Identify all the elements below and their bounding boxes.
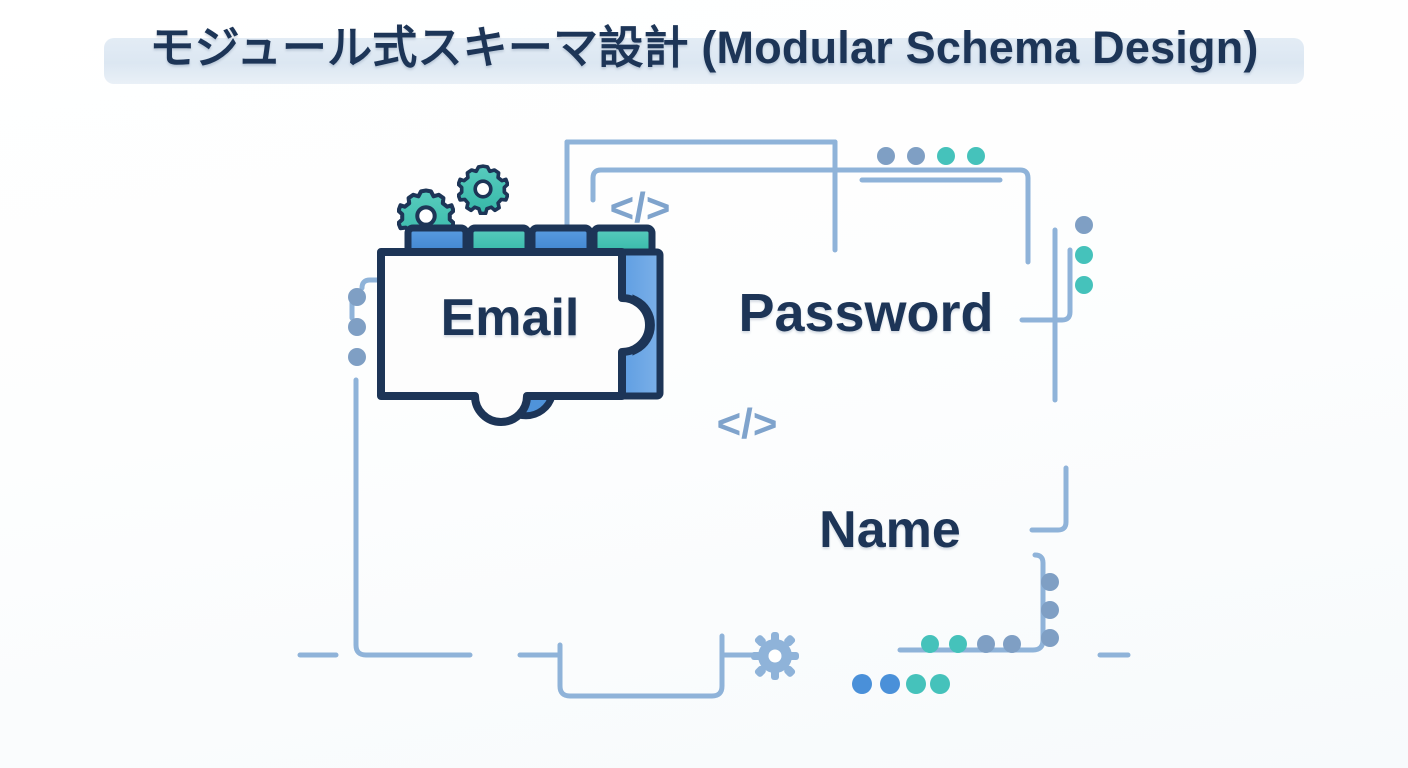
block-email-body[interactable] <box>381 252 649 422</box>
page-title-text: モジュール式スキーマ設計 (Modular Schema Design) <box>149 22 1258 74</box>
block-email[interactable] <box>381 228 660 422</box>
illustration-canvas: </> </> <box>0 0 1408 768</box>
blocks-and-gears <box>0 0 1408 768</box>
page-title: モジュール式スキーマ設計 (Modular Schema Design) <box>0 22 1408 74</box>
gear-email-top-icon <box>458 166 507 213</box>
